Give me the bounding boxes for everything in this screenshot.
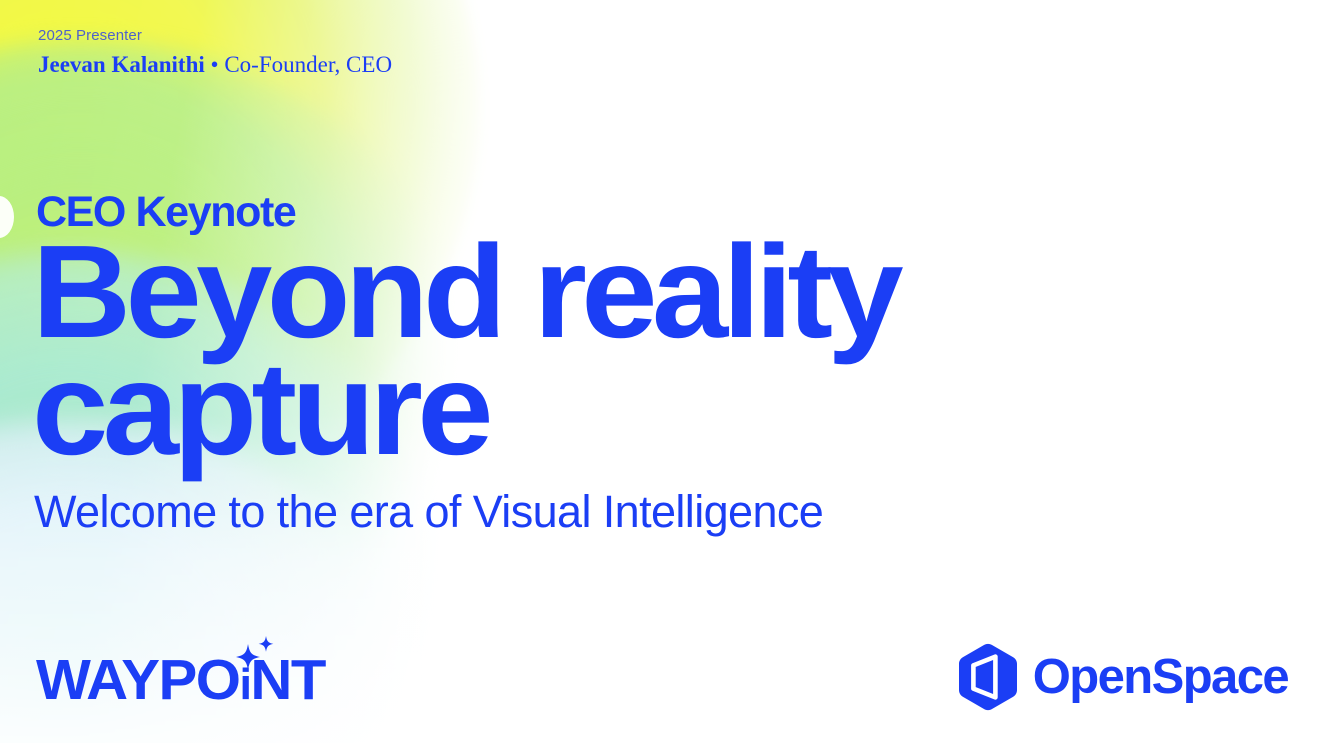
title-line-1: Beyond reality [32,237,1072,348]
headline-block: CEO Keynote Beyond reality capture Welco… [32,190,1032,536]
slide-subtitle: Welcome to the era of Visual Intelligenc… [34,487,1032,537]
hexagon-open-door-icon [957,643,1019,711]
waypoint-logo: WAYPOiNT [36,652,319,709]
page-title: Beyond reality capture [32,237,1072,465]
openspace-logo: OpenSpace [957,643,1288,711]
presentation-slide: 2025 Presenter Jeevan Kalanithi • Co-Fou… [0,0,1320,743]
presenter-role: • Co-Founder, CEO [205,52,392,77]
waypoint-wordmark-wrap: WAYPOiNT [36,652,319,709]
presenter-block: 2025 Presenter Jeevan Kalanithi • Co-Fou… [38,27,392,79]
waypoint-dotless-i: i [239,660,250,709]
waypoint-wordmark: WAYPOiNT [36,652,325,709]
waypoint-text-before-i: WAYPO [36,648,239,712]
openspace-wordmark: OpenSpace [1033,653,1288,702]
presenter-name: Jeevan Kalanithi [38,52,205,77]
title-line-2: capture [32,354,1072,465]
presenter-name-line: Jeevan Kalanithi • Co-Founder, CEO [38,51,392,79]
slide-content: 2025 Presenter Jeevan Kalanithi • Co-Fou… [0,0,1320,743]
waypoint-text-after-i: NT [250,648,324,712]
presenter-eyebrow: 2025 Presenter [38,27,392,45]
